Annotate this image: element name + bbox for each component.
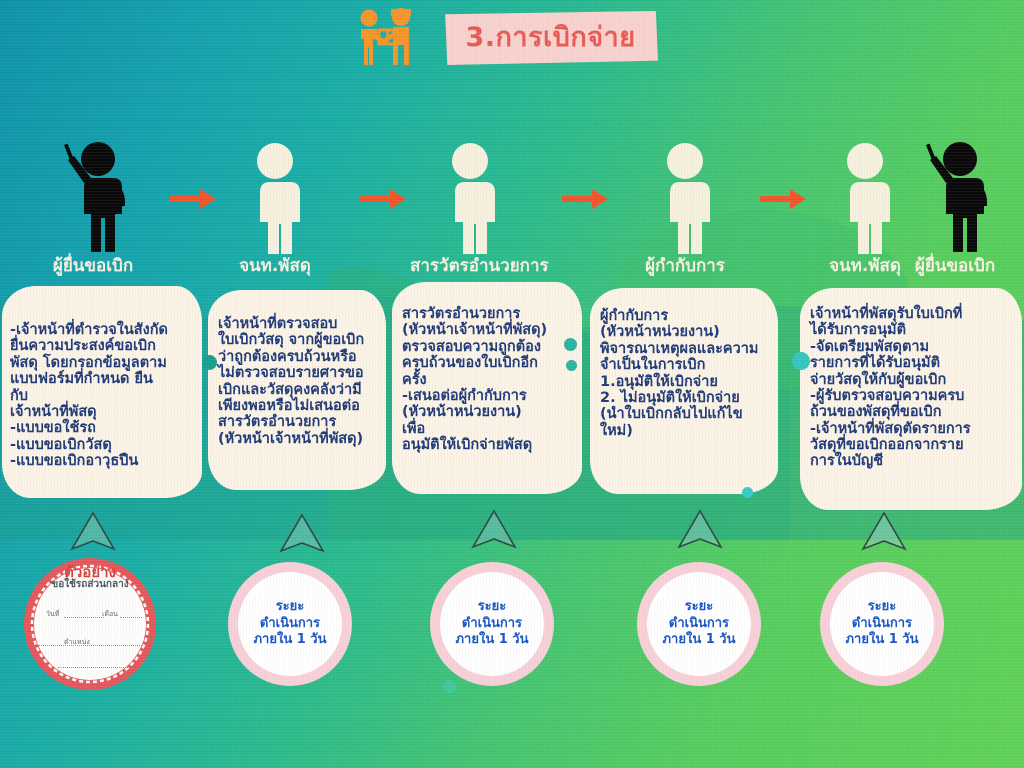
page-title: 3.การเบิกจ่าย	[465, 24, 635, 53]
arrow-right-icon-4	[760, 188, 806, 210]
info-card-4: ผู้กำกับการ (หัวหน้าหน่วยงาน) พิจารณาเหต…	[590, 288, 778, 494]
time-circle-2: ระยะ ดำเนินการ ภายใน 1 วัน	[430, 562, 554, 686]
seal-line	[38, 644, 142, 646]
sample-seal: วันที่ เดือน ตำแหน่ง ขอใช้รถส่วนกลาง ตัว…	[24, 558, 156, 690]
seal-date-label: วันที่	[46, 609, 59, 620]
person-standing-icon	[415, 138, 525, 256]
person-raised-arm-icon	[38, 138, 148, 256]
chevron-up-icon-3	[470, 508, 518, 550]
actor-6: ผู้ยื่นขอเบิก	[895, 138, 1015, 288]
seal-position-label: ตำแหน่ง	[64, 637, 90, 648]
info-card-1: -เจ้าหน้าที่ตำรวจในสังกัด ยื่นความประสงค…	[2, 286, 202, 498]
time-circle-3-text: ระยะ ดำเนินการ ภายใน 1 วัน	[647, 572, 751, 676]
info-card-3: สารวัตรอำนวยการ (หัวหน้าเจ้าหน้าที่พัสดุ…	[392, 282, 582, 494]
actor-2: จนท.พัสดุ	[215, 138, 335, 288]
arrow-right-icon-3	[562, 188, 608, 210]
time-circle-4: ระยะ ดำเนินการ ภายใน 1 วัน	[820, 562, 944, 686]
seal-line	[64, 616, 104, 618]
chevron-up-icon-2	[278, 512, 326, 554]
info-card-2: เจ้าหน้าที่ตรวจสอบ ใบเบิกวัสดุ จากผู้ขอเ…	[208, 290, 386, 490]
time-circle-1: ระยะ ดำเนินการ ภายใน 1 วัน	[228, 562, 352, 686]
time-circle-2-text: ระยะ ดำเนินการ ภายใน 1 วัน	[440, 572, 544, 676]
seal-line	[120, 616, 142, 618]
seal-month-label: เดือน	[102, 609, 118, 620]
info-card-3-text: สารวัตรอำนวยการ (หัวหน้าเจ้าหน้าที่พัสดุ…	[402, 306, 574, 453]
title-banner: 3.การเบิกจ่าย	[443, 11, 658, 65]
actor-1-label: ผู้ยื่นขอเบิก	[33, 258, 153, 275]
person-raised-arm-icon	[900, 138, 1010, 256]
actor-1: ผู้ยื่นขอเบิก	[33, 138, 153, 288]
seal-stamp-text: ตัวอย่าง	[24, 560, 156, 584]
chevron-up-icon-4	[676, 508, 724, 550]
info-card-5: เจ้าหน้าที่พัสดุรับใบเบิกที่ ได้รับการอน…	[800, 288, 1022, 510]
seal-line	[58, 666, 128, 668]
delivery-handoff-icon	[352, 6, 418, 68]
infographic-canvas: 3.การเบิกจ่าย ผู้ยื่นขอเบิก จนท.พัสดุ	[0, 0, 1024, 768]
person-standing-icon	[220, 138, 330, 256]
info-card-1-text: -เจ้าหน้าที่ตำรวจในสังกัด ยื่นความประสงค…	[10, 322, 192, 469]
actor-6-label: ผู้ยื่นขอเบิก	[895, 258, 1015, 275]
person-standing-icon	[630, 138, 740, 256]
time-circle-1-text: ระยะ ดำเนินการ ภายใน 1 วัน	[238, 572, 342, 676]
info-card-5-text: เจ้าหน้าที่พัสดุรับใบเบิกที่ ได้รับการอน…	[810, 306, 1016, 470]
actor-4: ผู้กำกับการ	[625, 138, 745, 288]
chevron-up-icon-1	[69, 510, 117, 552]
actor-4-label: ผู้กำกับการ	[625, 258, 745, 275]
info-card-4-text: ผู้กำกับการ (หัวหน้าหน่วยงาน) พิจารณาเหต…	[600, 308, 770, 439]
arrow-right-icon-2	[360, 188, 406, 210]
actor-3-label: สารวัตรอำนวยการ	[410, 258, 530, 275]
arrow-right-icon-1	[170, 188, 216, 210]
chevron-up-icon-5	[860, 510, 908, 552]
time-circle-3: ระยะ ดำเนินการ ภายใน 1 วัน	[637, 562, 761, 686]
time-circle-4-text: ระยะ ดำเนินการ ภายใน 1 วัน	[830, 572, 934, 676]
actor-2-label: จนท.พัสดุ	[215, 258, 335, 275]
actor-3: สารวัตรอำนวยการ	[410, 138, 530, 288]
info-card-2-text: เจ้าหน้าที่ตรวจสอบ ใบเบิกวัสดุ จากผู้ขอเ…	[218, 316, 378, 447]
